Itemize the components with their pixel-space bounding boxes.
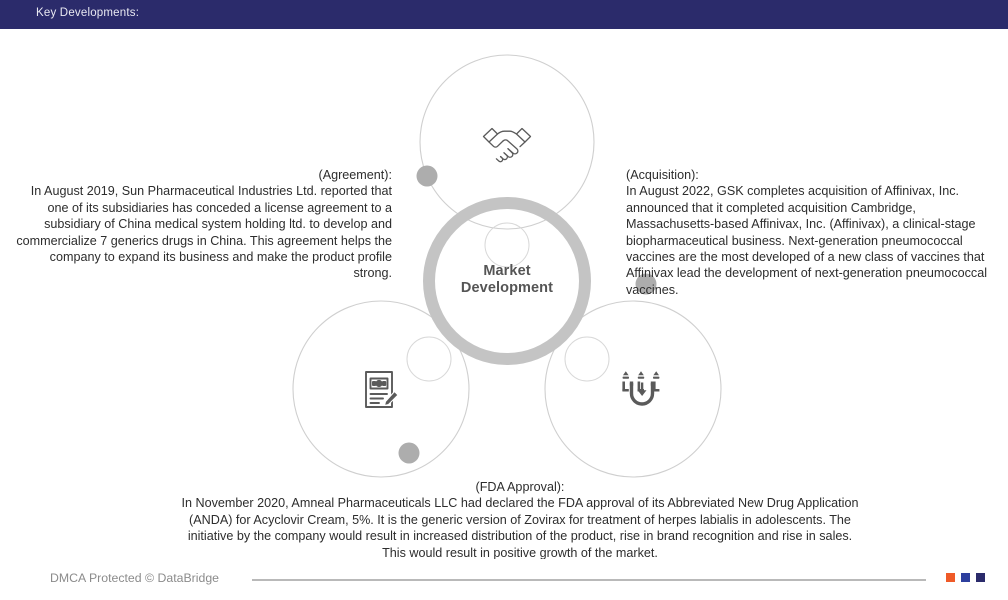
footer-logo-square-orange: [946, 573, 955, 582]
arc-hint-right: [565, 337, 609, 381]
callout-agreement-caption: (Agreement):: [8, 167, 392, 183]
connector-dot-fda-approval: [399, 443, 420, 464]
callout-acquisition-caption: (Acquisition):: [626, 167, 998, 183]
header-bar: [0, 0, 1008, 29]
callout-agreement-body: In August 2019, Sun Pharmaceutical Indus…: [8, 183, 392, 281]
arc-hint-top: [485, 223, 529, 267]
center-label: Market Development: [432, 263, 582, 297]
footer-bar: DMCA Protected © DataBridge: [0, 559, 1008, 600]
callout-fda-approval-body: In November 2020, Amneal Pharmaceuticals…: [176, 495, 864, 561]
footer-copyright: DMCA Protected © DataBridge: [50, 571, 219, 585]
center-label-line2: Development: [432, 280, 582, 297]
magnet-attraction-icon: [614, 362, 670, 418]
contract-document-pencil-icon: [353, 362, 409, 418]
diagram-stage: Market Development (Agreement): In Augus…: [0, 29, 1008, 559]
center-label-line1: Market: [432, 263, 582, 280]
callout-fda-approval-caption: (FDA Approval):: [176, 479, 864, 495]
callout-agreement: (Agreement): In August 2019, Sun Pharmac…: [8, 167, 392, 282]
page-title: Key Developments:: [36, 7, 139, 19]
handshake-icon: [479, 115, 535, 171]
callout-acquisition-body: In August 2022, GSK completes acquisitio…: [626, 183, 998, 298]
callout-fda-approval: (FDA Approval): In November 2020, Amneal…: [176, 479, 864, 561]
callout-acquisition: (Acquisition): In August 2022, GSK compl…: [626, 167, 998, 298]
connector-dot-agreement: [417, 166, 438, 187]
arc-hint-left: [407, 337, 451, 381]
footer-divider: [252, 579, 926, 581]
footer-logo-square-blue: [961, 573, 970, 582]
footer-logo-square-navy: [976, 573, 985, 582]
